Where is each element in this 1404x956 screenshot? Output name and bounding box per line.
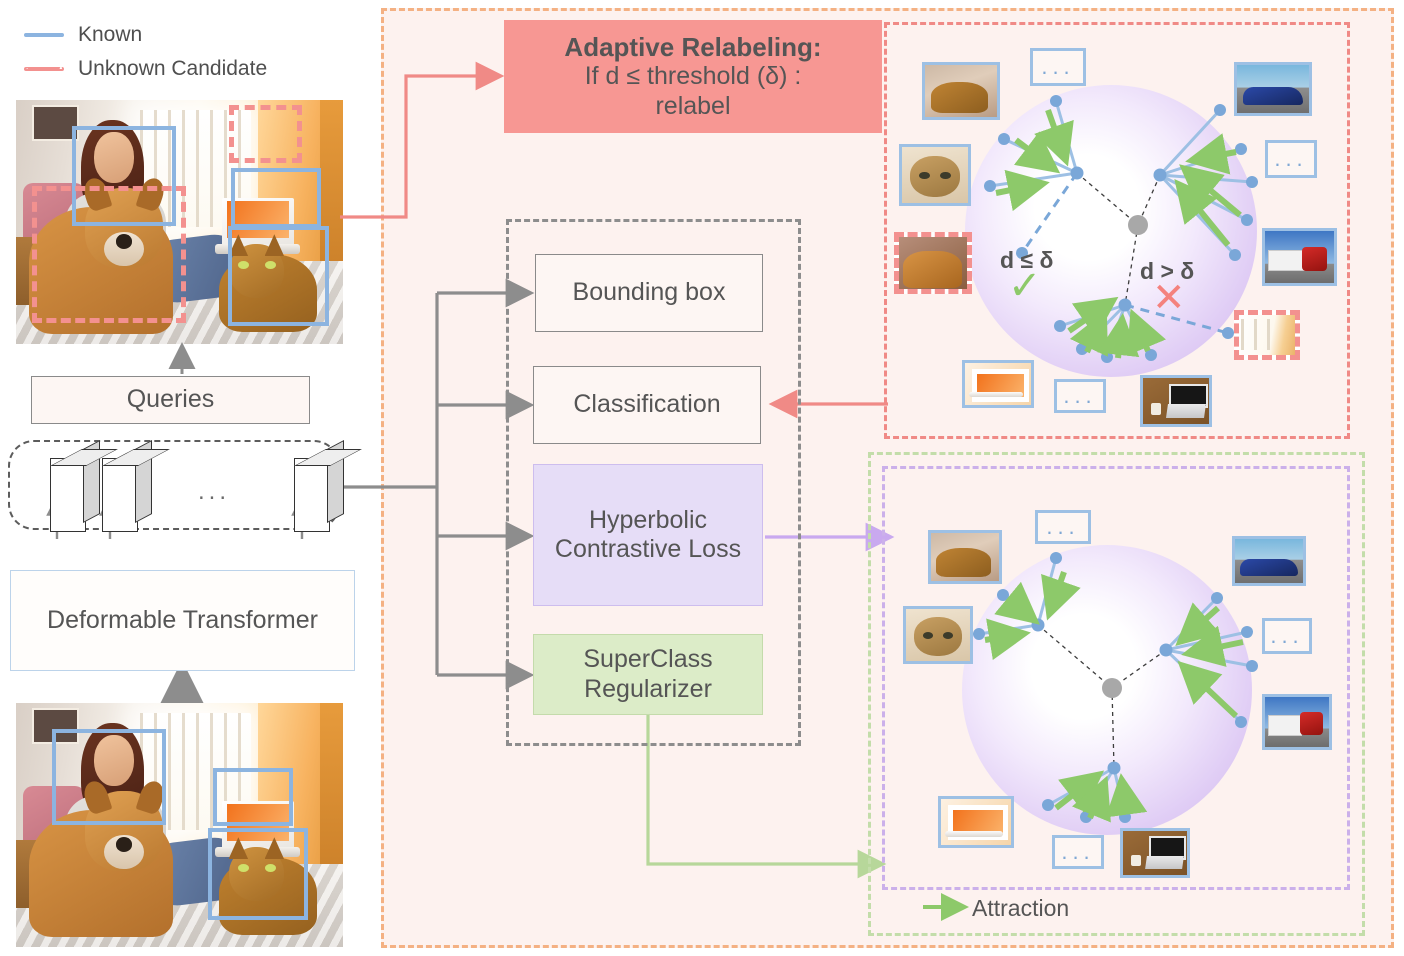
attraction-legend-label: Attraction [972,895,1069,922]
attraction-legend-arrow-layer [0,0,1404,956]
